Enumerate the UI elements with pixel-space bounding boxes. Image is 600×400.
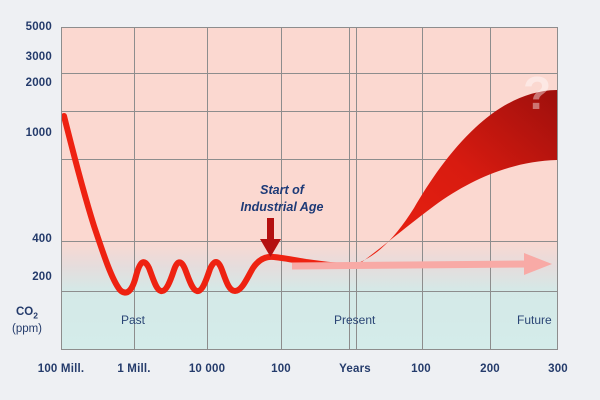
annotation-line-1: Start of (212, 182, 352, 199)
x-tick-label: Years (339, 363, 371, 375)
x-tick-label: 200 (480, 363, 500, 375)
x-tick-label: 100 Mill. (38, 363, 85, 375)
x-tick-label: 1 Mill. (117, 363, 150, 375)
y-tick-label: 5000 (0, 22, 52, 34)
co2-symbol: CO2 (0, 305, 54, 322)
y-tick-label: 400 (0, 234, 52, 246)
x-tick-label: 100 (411, 363, 431, 375)
era-label-future: Future (517, 313, 552, 327)
y-tick-label: 200 (0, 272, 52, 284)
y-tick-label: 3000 (0, 52, 52, 64)
chart-root: Past Present Future ? Start of Industria… (0, 0, 600, 400)
ppm-unit: (ppm) (0, 322, 54, 338)
annotation-arrow-down-icon (258, 218, 284, 258)
y-tick-label: 2000 (0, 78, 52, 90)
industrial-age-annotation: Start of Industrial Age (212, 182, 352, 215)
annotation-line-2: Industrial Age (212, 199, 352, 216)
x-tick-label: 100 (271, 363, 291, 375)
projection-fan (349, 90, 558, 269)
x-tick-label: 300 (548, 363, 568, 375)
era-label-past: Past (121, 313, 145, 327)
x-tick-label: 10 000 (189, 363, 225, 375)
era-label-present: Present (334, 313, 375, 327)
y-tick-label: 1000 (0, 128, 52, 140)
y-axis-unit-caption: CO2 (ppm) (0, 305, 54, 337)
stabilization-arrow (292, 253, 552, 275)
